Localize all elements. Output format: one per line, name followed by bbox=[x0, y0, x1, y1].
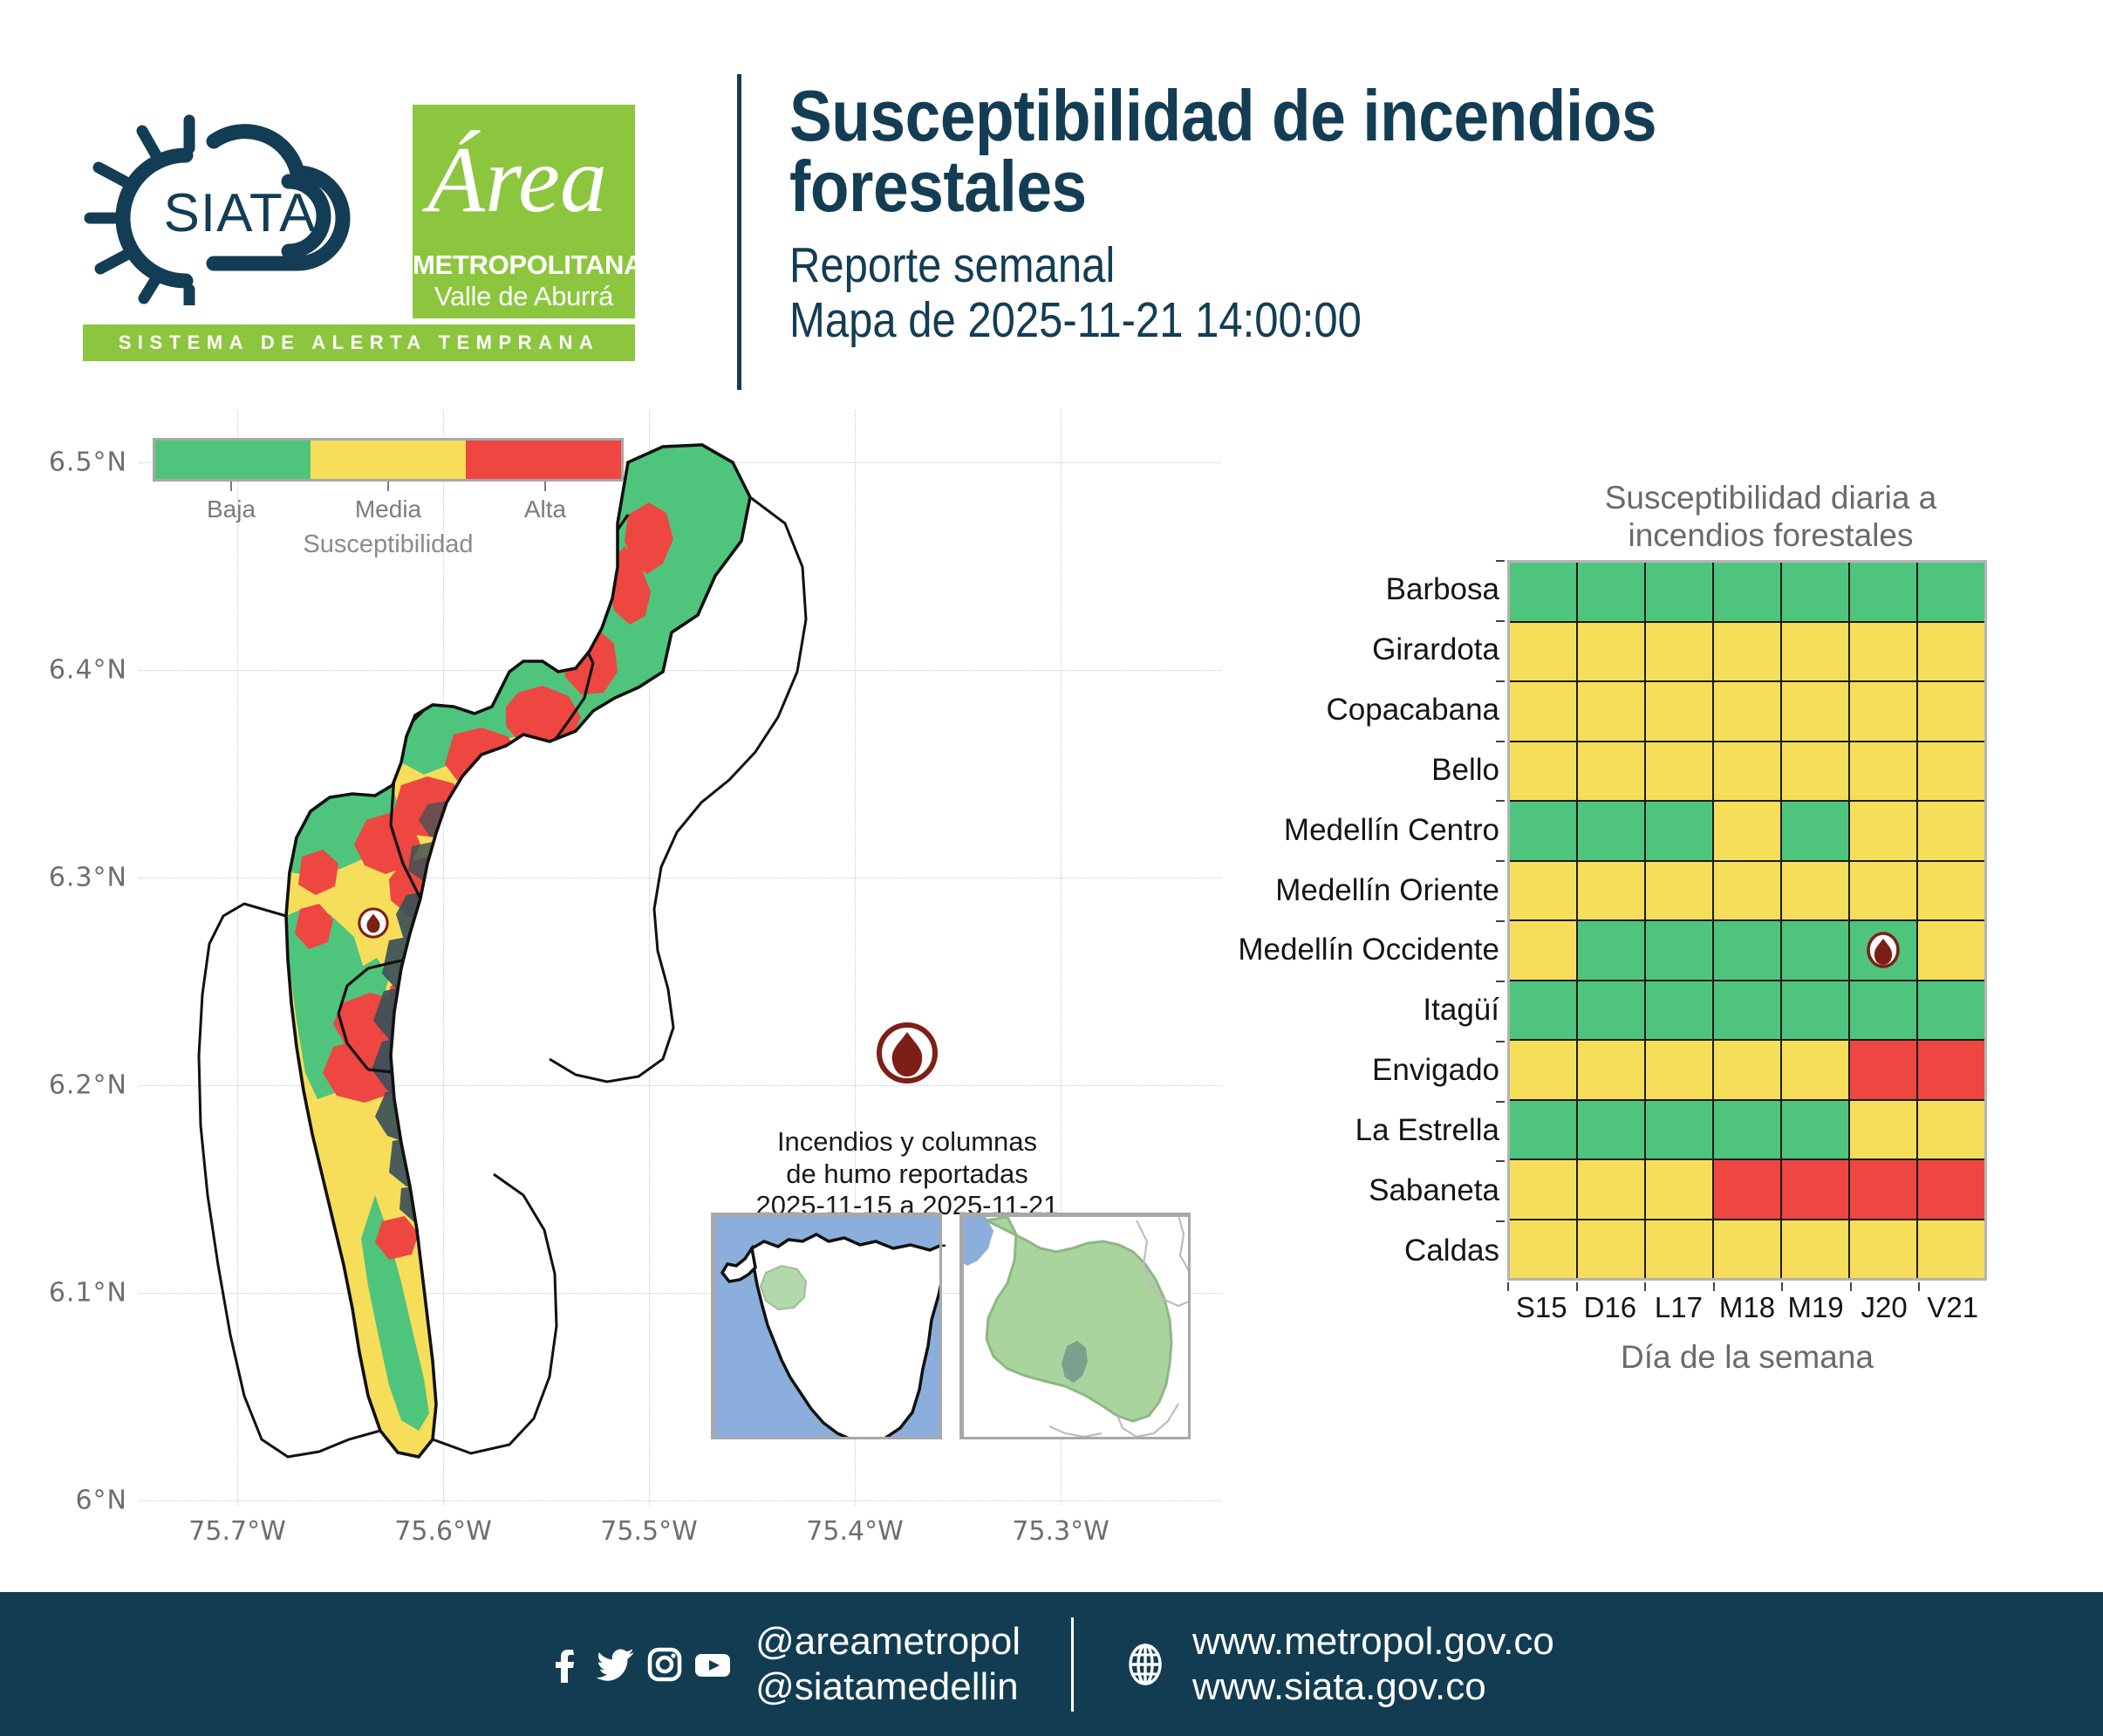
heatmap-cell bbox=[1850, 682, 1916, 741]
siata-logo: SIATA Área METROPOLITANA Valle de Aburrá… bbox=[83, 105, 641, 366]
legend-label-media: Media bbox=[301, 496, 475, 523]
heatmap-cell bbox=[1918, 623, 1984, 681]
heatmap-cell bbox=[1918, 1160, 1984, 1219]
heatmap-cell bbox=[1510, 862, 1576, 920]
map-lat-tick: 6.1°N bbox=[0, 1278, 127, 1309]
heatmap-row-label: Bello bbox=[1133, 753, 1499, 788]
heatmap-cell bbox=[1782, 802, 1848, 860]
legend-segment-media bbox=[311, 441, 466, 479]
heatmap-cell bbox=[1510, 1220, 1576, 1279]
heatmap-cell bbox=[1714, 682, 1780, 741]
map-lon-tick: 75.4°W bbox=[768, 1516, 942, 1547]
social-handles[interactable]: @areametropol @siatamedellin bbox=[755, 1619, 1021, 1710]
heatmap-col-tick bbox=[1850, 1282, 1852, 1291]
fire-icon bbox=[875, 1021, 939, 1085]
heatmap-row-tick bbox=[1496, 1160, 1505, 1162]
heatmap-cell bbox=[1714, 1041, 1780, 1099]
heatmap-cell bbox=[1850, 623, 1916, 681]
heatmap-cell bbox=[1646, 1160, 1712, 1219]
heatmap-cell bbox=[1850, 742, 1916, 801]
heatmap-cell bbox=[1714, 563, 1780, 621]
heatmap-row-tick bbox=[1496, 620, 1505, 622]
map-lat-tick: 6.5°N bbox=[0, 448, 127, 478]
heatmap-cell bbox=[1714, 1160, 1780, 1219]
heatmap-cell bbox=[1578, 1101, 1644, 1159]
heatmap-cell bbox=[1714, 921, 1780, 980]
map-lat-tick: 6.3°N bbox=[0, 863, 127, 893]
heatmap-cell bbox=[1510, 802, 1576, 860]
heatmap-row-label: Sabaneta bbox=[1133, 1173, 1499, 1208]
heatmap-row-label: Medellín Centro bbox=[1133, 813, 1499, 848]
legend-tick bbox=[387, 482, 389, 491]
heatmap-row-label: Girardota bbox=[1133, 632, 1499, 667]
heatmap-cell bbox=[1578, 862, 1644, 920]
map-lon-tick: 75.3°W bbox=[973, 1516, 1148, 1547]
svg-text:SIATA: SIATA bbox=[164, 183, 317, 243]
heatmap-cell bbox=[1782, 862, 1848, 920]
heatmap-cell bbox=[1714, 742, 1780, 801]
heatmap-cell bbox=[1714, 981, 1780, 1040]
area-metro-label: METROPOLITANA bbox=[413, 251, 635, 278]
heatmap-cell bbox=[1918, 563, 1984, 621]
heatmap-row-label: Medellín Oriente bbox=[1133, 873, 1499, 908]
heatmap-title: Susceptibilidad diaria a incendios fores… bbox=[1483, 480, 2059, 555]
heatmap-col-tick bbox=[1781, 1282, 1783, 1291]
heatmap-cell bbox=[1646, 802, 1712, 860]
legend-tick bbox=[544, 482, 546, 491]
daily-susceptibility-heatmap-panel: Susceptibilidad diaria a incendios fores… bbox=[1221, 471, 2103, 1596]
heatmap-cell bbox=[1578, 1220, 1644, 1279]
heatmap-col-label: V21 bbox=[1883, 1291, 2023, 1324]
twitter-icon[interactable] bbox=[597, 1644, 637, 1685]
heatmap-row-tick bbox=[1496, 981, 1505, 982]
heatmap-cell bbox=[1646, 921, 1712, 980]
fire-icon-map-marker bbox=[359, 909, 387, 937]
heatmap-cell bbox=[1646, 623, 1712, 681]
map-lon-tick: 75.6°W bbox=[356, 1516, 530, 1547]
area-script-icon: Área bbox=[413, 108, 635, 252]
colombia-inset bbox=[711, 1213, 942, 1439]
map-lat-tick: 6.2°N bbox=[0, 1070, 127, 1101]
heatmap-row-label: Copacabana bbox=[1133, 693, 1499, 728]
heatmap-cell bbox=[1782, 623, 1848, 681]
heatmap-cell bbox=[1646, 682, 1712, 741]
heatmap-cell bbox=[1918, 1041, 1984, 1099]
heatmap-cell bbox=[1578, 623, 1644, 681]
siata-sun-cloud-icon: SIATA bbox=[83, 105, 397, 305]
legend-segment-alta bbox=[466, 441, 621, 479]
heatmap-row-label: Medellín Occidente bbox=[1133, 933, 1499, 967]
heatmap-row-tick bbox=[1496, 680, 1505, 682]
legend-segment-baja bbox=[155, 441, 311, 479]
legend-labels: Baja Media Alta bbox=[153, 494, 624, 529]
heatmap-cell bbox=[1918, 1220, 1984, 1279]
heatmap-cell bbox=[1850, 981, 1916, 1040]
heatmap-cell bbox=[1850, 921, 1916, 980]
heatmap-col-tick bbox=[1918, 1282, 1920, 1291]
heatmap-row-tick bbox=[1496, 1041, 1505, 1042]
heatmap-row-tick bbox=[1496, 741, 1505, 742]
heatmap-cell bbox=[1510, 1101, 1576, 1159]
heatmap-cell bbox=[1510, 1041, 1576, 1099]
heatmap-col-tick bbox=[1644, 1282, 1646, 1291]
web-block: www.metropol.gov.co www.siata.gov.co bbox=[1124, 1619, 1554, 1710]
heatmap-cell bbox=[1850, 1220, 1916, 1279]
heatmap-col-tick bbox=[1713, 1282, 1715, 1291]
map-lat-tick: 6°N bbox=[0, 1486, 127, 1516]
heatmap-cell bbox=[1850, 802, 1916, 860]
area-valle-label: Valle de Aburrá bbox=[413, 283, 635, 310]
heatmap-col-tick bbox=[1507, 1282, 1509, 1291]
heatmap-cell bbox=[1714, 802, 1780, 860]
header-text-block: Susceptibilidad de incendios forestales … bbox=[789, 80, 2054, 349]
heatmap-cell bbox=[1510, 921, 1576, 980]
heatmap-cell bbox=[1510, 742, 1576, 801]
heatmap-row-tick bbox=[1496, 1101, 1505, 1103]
facebook-icon[interactable] bbox=[549, 1644, 589, 1685]
heatmap-cell bbox=[1510, 981, 1576, 1040]
heatmap-cell bbox=[1646, 1041, 1712, 1099]
legend-colorbar bbox=[153, 438, 624, 482]
heatmap-cell bbox=[1578, 1041, 1644, 1099]
footer-divider bbox=[1071, 1617, 1074, 1712]
heatmap-cell bbox=[1850, 1041, 1916, 1099]
heatmap-cell bbox=[1782, 921, 1848, 980]
heatmap-cell bbox=[1850, 1160, 1916, 1219]
heatmap-grid bbox=[1510, 563, 1984, 1278]
heatmap-cell bbox=[1918, 682, 1984, 741]
heatmap-cell bbox=[1782, 981, 1848, 1040]
map-lat-tick: 6.4°N bbox=[0, 655, 127, 686]
svg-text:Área: Área bbox=[422, 128, 607, 232]
heatmap-cell bbox=[1646, 742, 1712, 801]
colombia-inset-map bbox=[714, 1215, 942, 1439]
heatmap-cell bbox=[1782, 1101, 1848, 1159]
globe-icon bbox=[1124, 1642, 1166, 1687]
heatmap-row-tick bbox=[1496, 860, 1505, 862]
legend-tick bbox=[230, 482, 232, 491]
heatmap-cell bbox=[1918, 742, 1984, 801]
heatmap-cell bbox=[1918, 1101, 1984, 1159]
website-links[interactable]: www.metropol.gov.co www.siata.gov.co bbox=[1192, 1619, 1554, 1710]
page-subtitle: Reporte semanal bbox=[789, 238, 1877, 294]
heatmap-col-tick bbox=[1576, 1282, 1578, 1291]
social-block: @areametropol @siatamedellin bbox=[549, 1619, 1021, 1710]
heatmap-cell bbox=[1782, 563, 1848, 621]
heatmap-row-label: Envigado bbox=[1133, 1053, 1499, 1088]
heatmap-cell bbox=[1510, 563, 1576, 621]
heatmap-cell bbox=[1578, 921, 1644, 980]
heatmap-cell bbox=[1782, 1160, 1848, 1219]
heatmap-cell bbox=[1714, 1101, 1780, 1159]
susceptibility-map-panel: 6.5°N 6.4°N 6.3°N 6.2°N 6.1°N 6°N 75.7°W… bbox=[52, 410, 1221, 1588]
heatmap-cell bbox=[1918, 802, 1984, 860]
siata-tagline: SISTEMA DE ALERTA TEMPRANA bbox=[83, 325, 635, 361]
heatmap-cell bbox=[1918, 921, 1984, 980]
map-date-line: Mapa de 2025-11-21 14:00:00 bbox=[789, 293, 1877, 349]
page-header: SIATA Área METROPOLITANA Valle de Aburrá… bbox=[0, 0, 2103, 410]
legend-label-baja: Baja bbox=[144, 496, 318, 523]
heatmap-cell bbox=[1578, 742, 1644, 801]
heatmap-cell bbox=[1510, 682, 1576, 741]
heatmap-cell bbox=[1578, 1160, 1644, 1219]
legend-label-alta: Alta bbox=[458, 496, 632, 523]
heatmap-cell bbox=[1578, 682, 1644, 741]
heatmap-x-axis-label: Día de la semana bbox=[1507, 1339, 1987, 1376]
area-metropolitana-logo: Área METROPOLITANA Valle de Aburrá bbox=[413, 105, 635, 318]
heatmap-row-tick bbox=[1496, 800, 1505, 802]
heatmap-row-label: Barbosa bbox=[1133, 572, 1499, 607]
heatmap-cell bbox=[1782, 1041, 1848, 1099]
social-icons bbox=[549, 1644, 733, 1685]
heatmap-cell bbox=[1782, 742, 1848, 801]
heatmap-cell bbox=[1918, 981, 1984, 1040]
heatmap-row-tick bbox=[1496, 1220, 1505, 1222]
youtube-icon[interactable] bbox=[693, 1644, 733, 1685]
heatmap-cell bbox=[1578, 981, 1644, 1040]
heatmap-cell bbox=[1850, 1101, 1916, 1159]
legend-ticks bbox=[153, 482, 624, 494]
heatmap-cell bbox=[1714, 623, 1780, 681]
map-legend: Baja Media Alta Susceptibilidad bbox=[153, 438, 624, 559]
heatmap-cell bbox=[1646, 1220, 1712, 1279]
heatmap-cell bbox=[1646, 1101, 1712, 1159]
legend-title: Susceptibilidad bbox=[153, 530, 624, 559]
heatmap-cell bbox=[1714, 1220, 1780, 1279]
heatmap-cell bbox=[1850, 862, 1916, 920]
header-divider bbox=[737, 74, 741, 390]
heatmap-cell bbox=[1510, 623, 1576, 681]
map-lon-tick: 75.5°W bbox=[562, 1516, 736, 1547]
heatmap-row-tick bbox=[1496, 920, 1505, 922]
heatmap-cell bbox=[1646, 862, 1712, 920]
heatmap-cell bbox=[1714, 862, 1780, 920]
heatmap-cell bbox=[1578, 802, 1644, 860]
page-footer: @areametropol @siatamedellin www.metropo… bbox=[0, 1592, 2103, 1736]
instagram-icon[interactable] bbox=[645, 1644, 685, 1685]
heatmap-cell bbox=[1782, 682, 1848, 741]
heatmap-row-label: Itagüí bbox=[1133, 993, 1499, 1028]
page-title: Susceptibilidad de incendios forestales bbox=[789, 80, 1902, 222]
heatmap-cell bbox=[1782, 1220, 1848, 1279]
heatmap-row-label: La Estrella bbox=[1133, 1113, 1499, 1148]
heatmap-cell bbox=[1850, 563, 1916, 621]
heatmap-cell bbox=[1510, 1160, 1576, 1219]
heatmap-cell bbox=[1646, 563, 1712, 621]
heatmap-cell bbox=[1918, 862, 1984, 920]
heatmap-row-label: Caldas bbox=[1133, 1234, 1499, 1268]
heatmap-cell bbox=[1578, 563, 1644, 621]
map-lon-tick: 75.7°W bbox=[150, 1516, 324, 1547]
heatmap-plot-area bbox=[1507, 560, 1987, 1281]
heatmap-cell bbox=[1646, 981, 1712, 1040]
heatmap-row-tick bbox=[1496, 560, 1505, 562]
